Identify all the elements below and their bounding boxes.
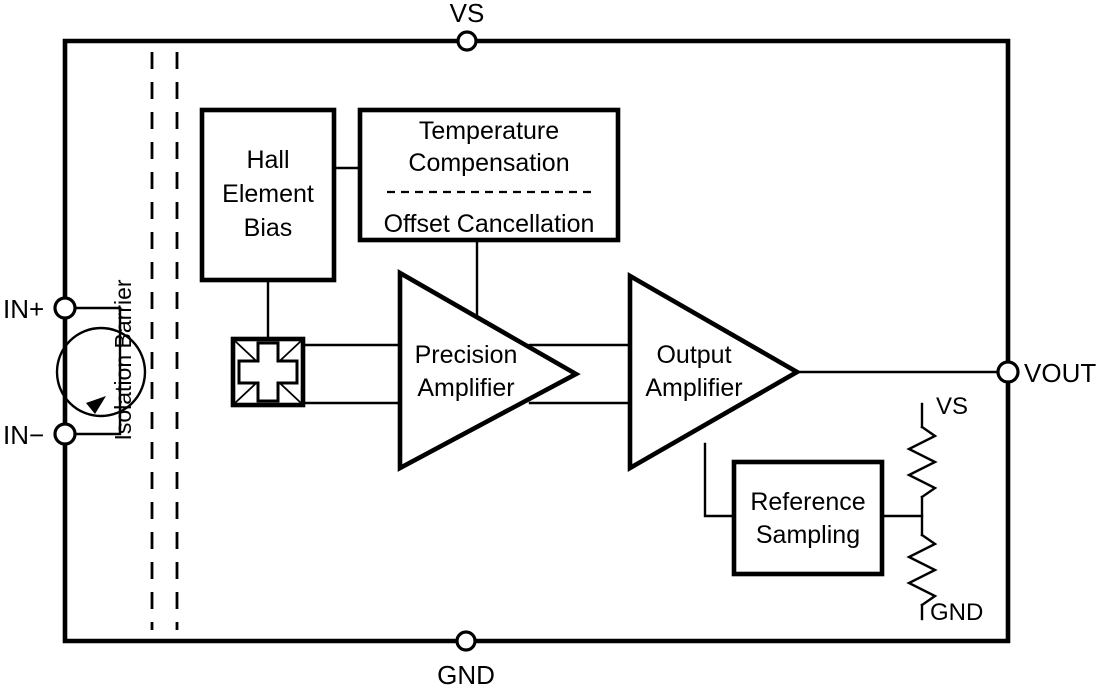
hall-bias-line2: Element — [222, 180, 314, 208]
block-reference-sampling[interactable]: Reference Sampling — [734, 462, 882, 574]
vout-label: VOUT — [1024, 358, 1096, 388]
output-amp-triangle[interactable] — [630, 276, 797, 468]
in-minus-terminal-node[interactable] — [55, 424, 75, 444]
in-minus-label: IN− — [3, 420, 44, 450]
reference-sampling-line2: Sampling — [756, 521, 860, 549]
hall-bias-line3: Bias — [244, 214, 293, 242]
block-output-amplifier[interactable]: Output Amplifier — [630, 276, 797, 468]
gnd-terminal-node[interactable] — [457, 632, 475, 650]
vs-top-label: VS — [450, 0, 485, 28]
temp-comp-line2: Compensation — [408, 149, 569, 177]
gnd-bottom-label: GND — [437, 660, 495, 689]
output-amp-line2: Amplifier — [645, 374, 742, 402]
schematic-svg: VS GND IN+ IN− Isolation Barrier — [0, 0, 1100, 689]
isolation-barrier-label: Isolation Barrier — [110, 279, 136, 440]
temp-comp-line1: Temperature — [419, 117, 559, 145]
resistor-zigzag-icon-bottom — [909, 535, 935, 605]
voltage-divider: VS GND — [909, 393, 983, 626]
wire-outputamp-to-refsampling — [705, 444, 734, 516]
precision-amp-triangle[interactable] — [400, 273, 576, 468]
hall-bias-line1: Hall — [246, 146, 289, 174]
resistor-zigzag-icon-top — [909, 427, 935, 497]
output-amp-line1: Output — [656, 341, 731, 369]
divider-vs-label: VS — [936, 393, 968, 420]
temp-comp-line3: Offset Cancellation — [384, 210, 595, 238]
block-hall-element-bias[interactable]: Hall Element Bias — [202, 110, 334, 280]
precision-amp-line2: Amplifier — [417, 374, 514, 402]
reference-sampling-box[interactable] — [734, 462, 882, 574]
reference-sampling-line1: Reference — [750, 488, 865, 516]
block-temperature-compensation[interactable]: Temperature Compensation Offset Cancella… — [360, 110, 618, 240]
vout-terminal-node[interactable] — [998, 362, 1018, 382]
vs-terminal-node[interactable] — [458, 32, 476, 50]
pin-vout[interactable]: VOUT — [998, 358, 1096, 388]
block-precision-amplifier[interactable]: Precision Amplifier — [400, 273, 576, 468]
precision-amp-line1: Precision — [415, 341, 518, 369]
block-diagram-canvas: VS GND IN+ IN− Isolation Barrier — [0, 0, 1100, 689]
divider-gnd-label: GND — [930, 599, 983, 626]
in-plus-label: IN+ — [3, 294, 44, 324]
hall-element-icon — [233, 339, 303, 405]
isolation-barrier: Isolation Barrier — [110, 52, 177, 630]
in-plus-terminal-node[interactable] — [55, 298, 75, 318]
